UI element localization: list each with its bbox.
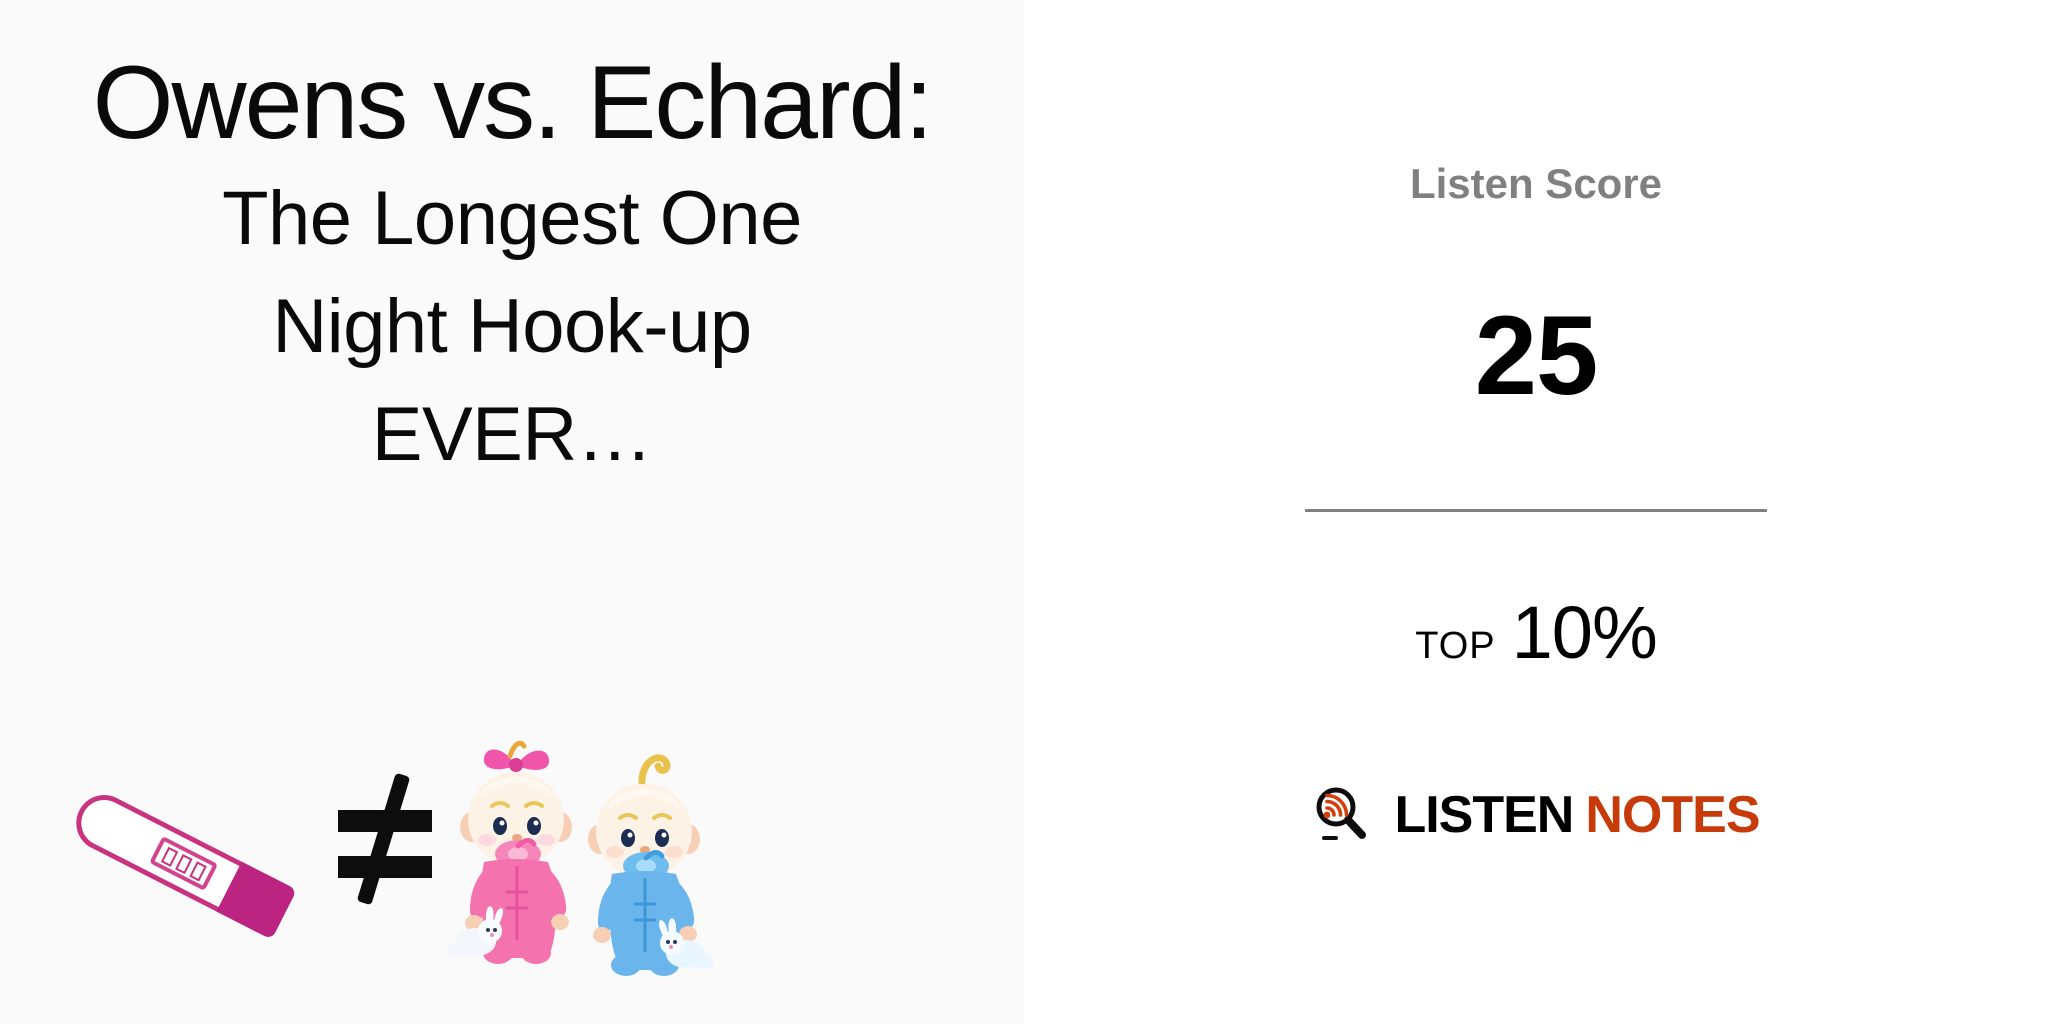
listen-notes-logo[interactable]: LISTENNOTES [1024, 785, 2048, 845]
listen-notes-word-primary: LISTEN [1394, 786, 1573, 844]
listen-score-card: Owens vs. Echard: The Longest One Night … [0, 0, 2048, 1024]
top-percentile-prefix: TOP [1415, 625, 1495, 667]
top-percentile-value: 10% [1512, 591, 1657, 674]
pregnancy-test-bar [161, 846, 179, 866]
score-divider [1305, 509, 1767, 512]
artwork-illustration [0, 724, 1024, 1024]
baby-boy-icon [568, 746, 720, 976]
episode-title-line-1: Owens vs. Echard: [0, 45, 1024, 161]
listen-score-value: 25 [1024, 300, 2048, 412]
not-equal-icon [330, 764, 440, 904]
listen-score-panel: Listen Score 25 TOP10% LISTENNOTES [1024, 0, 2048, 1024]
top-percentile: TOP10% [1024, 590, 2048, 675]
listen-score-label: Listen Score [1024, 160, 2048, 208]
listen-notes-word-accent: NOTES [1585, 786, 1759, 844]
pregnancy-test-bar [175, 853, 193, 873]
pregnancy-test-icon [64, 785, 297, 945]
listen-notes-magnifier-icon [1312, 785, 1372, 845]
episode-artwork-panel: Owens vs. Echard: The Longest One Night … [0, 0, 1024, 1024]
pregnancy-test-bar [189, 861, 207, 881]
listen-notes-wordmark: LISTENNOTES [1394, 789, 1759, 841]
episode-title-line-3: Night Hook-up [0, 283, 1024, 371]
not-equal-slash [357, 773, 411, 906]
episode-title-line-4: EVER… [0, 391, 1024, 479]
episode-title-line-2: The Longest One [0, 175, 1024, 263]
